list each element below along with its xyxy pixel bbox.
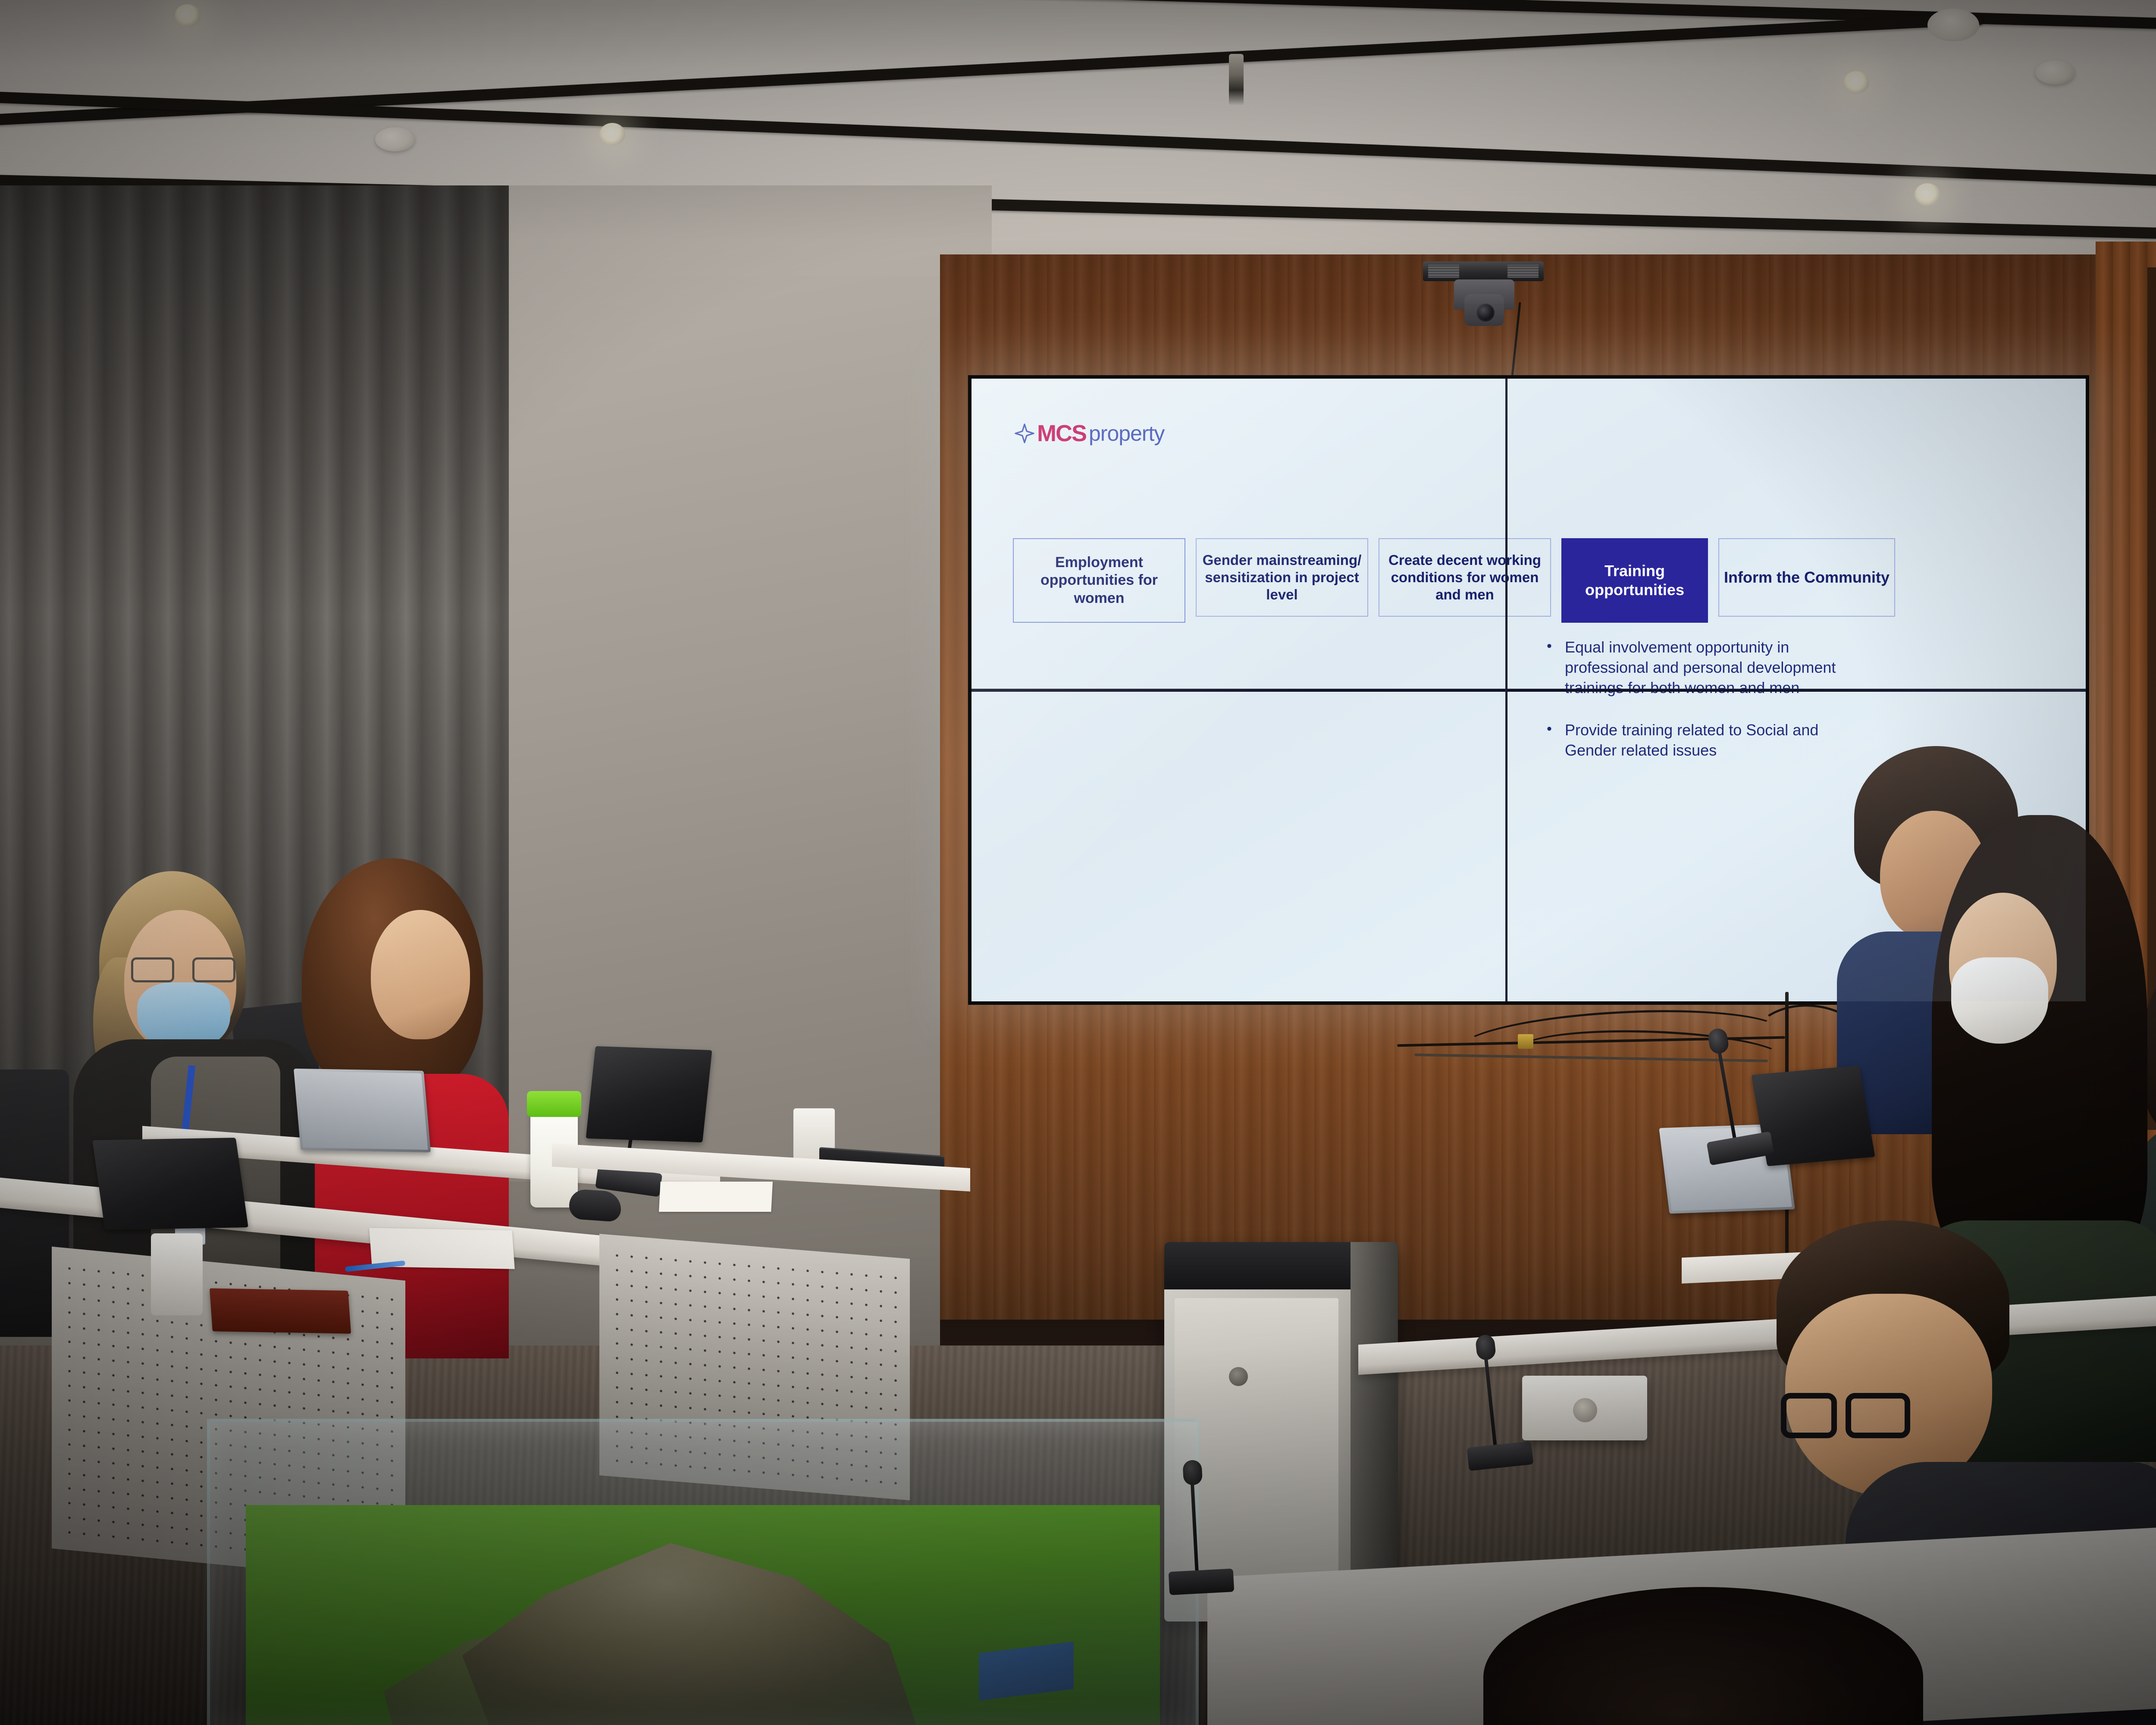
terrain-model-case bbox=[207, 1419, 1199, 1725]
display-bezel-vertical bbox=[1505, 379, 1507, 1001]
ceiling-downlight bbox=[175, 4, 201, 27]
bottle-cap[interactable] bbox=[527, 1091, 581, 1117]
display-case-glass bbox=[207, 1419, 1199, 1725]
mic-head-icon bbox=[1182, 1460, 1203, 1486]
air-purifier bbox=[1164, 1242, 1397, 1621]
purifier-brand-mark bbox=[1229, 1367, 1248, 1386]
purifier-front-panel bbox=[1175, 1298, 1338, 1600]
eyeglasses-icon bbox=[1781, 1393, 1910, 1440]
paper-cup[interactable] bbox=[151, 1233, 203, 1315]
ceiling-downlight bbox=[1843, 71, 1869, 94]
notebook[interactable] bbox=[210, 1288, 351, 1333]
camera-lens-icon bbox=[1476, 304, 1495, 322]
pillar-box-inform-community[interactable]: Inform the Community bbox=[1718, 538, 1895, 617]
slide-logo: MCS property bbox=[1015, 422, 1164, 445]
logo-secondary-text: property bbox=[1089, 423, 1164, 444]
laptop[interactable] bbox=[92, 1138, 248, 1230]
mic-base bbox=[1169, 1568, 1235, 1595]
conference-room-scene: MCS property Employment opportunities fo… bbox=[0, 0, 2156, 1725]
four-point-star-icon bbox=[1015, 423, 1034, 443]
face-mask bbox=[1951, 957, 2048, 1044]
ceiling-downlight bbox=[1915, 183, 1940, 206]
pillar-box-training-opportunities[interactable]: Training opportunities bbox=[1561, 538, 1708, 623]
list-item: Provide training related to Social and G… bbox=[1545, 720, 1847, 761]
pillar-box-working-conditions[interactable]: Create decent working conditions for wom… bbox=[1379, 538, 1551, 617]
ceiling-speaker-bar bbox=[1423, 261, 1544, 281]
sprinkler-head-icon bbox=[1229, 54, 1244, 106]
pillar-box-employment[interactable]: Employment opportunities for women bbox=[1013, 538, 1185, 623]
face bbox=[371, 910, 470, 1039]
ceiling-downlight bbox=[599, 123, 625, 145]
pillar-box-row: Employment opportunities for women Gende… bbox=[1013, 538, 2026, 623]
purifier-side-vent bbox=[1351, 1242, 1398, 1621]
foreground-attendee bbox=[1483, 1587, 1923, 1725]
smoke-detector-icon bbox=[375, 127, 415, 151]
smoke-detector-icon bbox=[2035, 60, 2075, 85]
ceiling-vent bbox=[1927, 9, 1979, 41]
hair bbox=[1932, 815, 2147, 1264]
microphone-console[interactable] bbox=[1522, 1376, 1647, 1440]
grey-wall-panel bbox=[440, 276, 1009, 1182]
slide-bullet-list: Equal involvement opportunity in profess… bbox=[1545, 637, 1847, 783]
laptop[interactable] bbox=[294, 1069, 431, 1153]
hair bbox=[1483, 1587, 1923, 1725]
laptop-screen bbox=[296, 1071, 428, 1150]
console-knob[interactable] bbox=[1573, 1398, 1597, 1422]
logo-primary-text: MCS bbox=[1037, 422, 1086, 445]
ptz-camera-icon bbox=[1454, 279, 1514, 327]
display-bezel-horizontal bbox=[971, 689, 2086, 692]
eyeglasses-icon bbox=[129, 957, 237, 983]
paper-sheet bbox=[659, 1182, 773, 1212]
pillar-box-gender-mainstreaming[interactable]: Gender mainstreaming/ sensitization in p… bbox=[1196, 538, 1368, 617]
laptop[interactable] bbox=[586, 1046, 712, 1142]
cable-clip-icon bbox=[1518, 1034, 1533, 1049]
